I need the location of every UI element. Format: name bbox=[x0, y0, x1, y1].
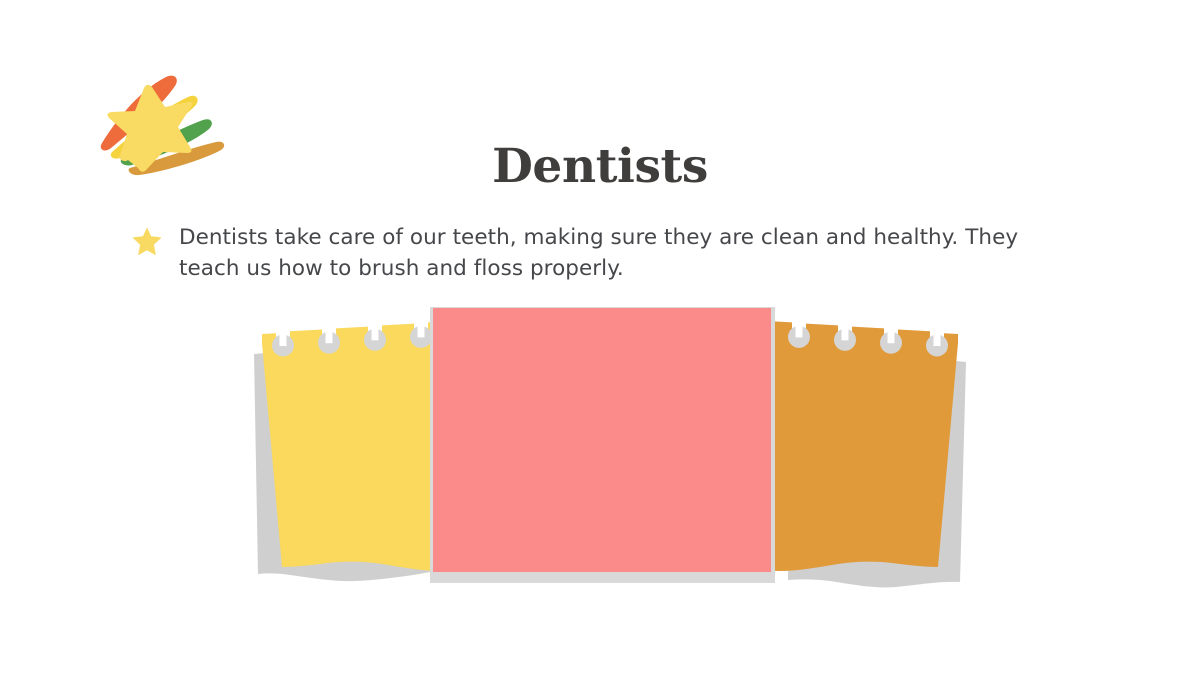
body-paragraph-block: Dentists take care of our teeth, making … bbox=[132, 222, 1068, 284]
star-bullet-icon bbox=[132, 226, 162, 256]
center-panel-fill bbox=[433, 308, 771, 572]
page-title: Dentists bbox=[0, 140, 1200, 194]
body-text: Dentists take care of our teeth, making … bbox=[179, 222, 1068, 284]
image-placeholder-group bbox=[240, 290, 980, 610]
slide-canvas: Dentists Dentists take care of our teeth… bbox=[0, 0, 1200, 675]
image-placeholder-center-pink[interactable] bbox=[430, 307, 775, 583]
star-bullet-shape-icon bbox=[133, 228, 161, 255]
